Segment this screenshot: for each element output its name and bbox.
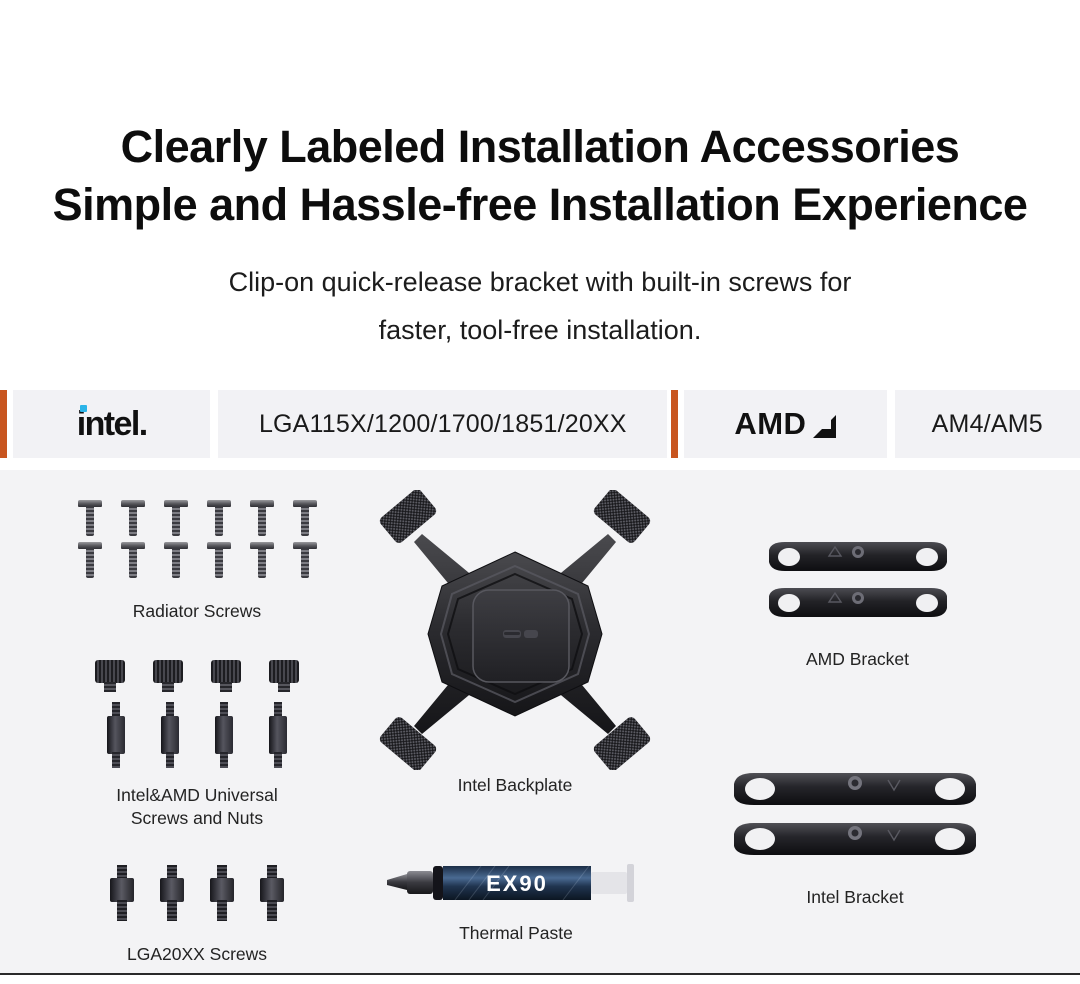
thermal-paste-brand: EX90 — [486, 871, 548, 896]
compatibility-bar: intel. LGA115X/1200/1700/1851/20XX AMD A… — [0, 390, 1080, 458]
screw-icon — [292, 500, 318, 536]
intel-bracket-image — [710, 770, 1000, 858]
screw-icon — [120, 542, 146, 578]
amd-socket-cell: AM4/AM5 — [895, 390, 1080, 458]
headline-block: Clearly Labeled Installation Accessories… — [0, 0, 1080, 234]
intel-logo: intel. — [77, 407, 147, 441]
thumb-nut-icon — [269, 660, 299, 694]
headline-line-2: Simple and Hassle-free Installation Expe… — [53, 179, 1028, 230]
subheadline-line-2: faster, tool-free installation. — [0, 306, 1080, 354]
thumb-nut-icon — [95, 660, 125, 694]
intel-bracket-icon — [730, 820, 980, 858]
accessory-caption: Intel Backplate — [370, 774, 660, 797]
thumb-nuts-image — [72, 660, 322, 694]
amd-logo: AMD — [734, 406, 836, 442]
intel-logo-cell: intel. — [13, 390, 210, 458]
amd-logo-cell: AMD — [684, 390, 886, 458]
screw-icon — [77, 500, 103, 536]
standoff-screws-image — [72, 702, 322, 768]
screw-icon — [120, 500, 146, 536]
accessory-lga20xx-screws: LGA20XX Screws — [72, 865, 322, 966]
product-feature-image: Clearly Labeled Installation Accessories… — [0, 0, 1080, 984]
thumb-nut-icon — [211, 660, 241, 694]
intel-logo-period: . — [139, 405, 147, 443]
accessory-caption: Intel&AMD Universal Screws and Nuts — [72, 784, 322, 830]
screw-icon — [206, 542, 232, 578]
standoff-screw-icon — [158, 865, 186, 921]
page-title: Clearly Labeled Installation Accessories… — [0, 118, 1080, 234]
accessory-caption: LGA20XX Screws — [72, 943, 322, 966]
accessory-universal-screws: Intel&AMD Universal Screws and Nuts — [72, 660, 322, 830]
intel-bracket-icon — [730, 770, 980, 808]
lga20xx-screws-image — [72, 865, 322, 921]
intel-backplate-image — [370, 490, 660, 770]
subheadline-line-1: Clip-on quick-release bracket with built… — [0, 258, 1080, 306]
amd-accent-bar — [671, 390, 678, 458]
accessory-caption: Intel Bracket — [710, 886, 1000, 909]
standoff-screw-icon — [108, 865, 136, 921]
intel-accent-bar — [0, 390, 7, 458]
standoff-screw-icon — [103, 702, 129, 768]
standoff-screw-icon — [211, 702, 237, 768]
amd-socket-list: AM4/AM5 — [932, 410, 1043, 439]
standoff-screw-icon — [157, 702, 183, 768]
amd-logo-text: AMD — [734, 406, 806, 442]
amd-bracket-icon — [763, 540, 953, 574]
accessory-intel-backplate: Intel Backplate — [370, 490, 660, 797]
accessory-amd-bracket: AMD Bracket — [725, 540, 990, 671]
screw-icon — [77, 542, 103, 578]
thumb-nut-icon — [153, 660, 183, 694]
standoff-screw-icon — [265, 702, 291, 768]
radiator-screws-image — [72, 500, 322, 578]
standoff-screw-icon — [208, 865, 236, 921]
headline-line-1: Clearly Labeled Installation Accessories — [121, 121, 960, 172]
screw-icon — [249, 500, 275, 536]
accessory-caption: AMD Bracket — [725, 648, 990, 671]
screw-icon — [292, 542, 318, 578]
accessory-caption: Thermal Paste — [385, 922, 647, 945]
screw-icon — [249, 542, 275, 578]
screw-icon — [163, 500, 189, 536]
standoff-screw-icon — [258, 865, 286, 921]
intel-logo-dot — [80, 405, 87, 412]
thermal-paste-image: EX90 — [385, 860, 643, 906]
intel-socket-list: LGA115X/1200/1700/1851/20XX — [259, 410, 627, 439]
intel-socket-cell: LGA115X/1200/1700/1851/20XX — [218, 390, 667, 458]
screw-icon — [163, 542, 189, 578]
accessory-thermal-paste: EX90 Thermal Paste — [385, 860, 647, 945]
accessory-intel-bracket: Intel Bracket — [710, 770, 1000, 909]
subheadline: Clip-on quick-release bracket with built… — [0, 258, 1080, 354]
accessory-radiator-screws: Radiator Screws — [72, 500, 322, 623]
screw-icon — [206, 500, 232, 536]
accessory-caption: Radiator Screws — [72, 600, 322, 623]
amd-arrow-icon — [809, 411, 836, 438]
amd-bracket-icon — [763, 586, 953, 620]
accessories-panel: Radiator Screws Intel&AMD Universal Scre… — [0, 470, 1080, 975]
amd-bracket-image — [725, 540, 990, 620]
